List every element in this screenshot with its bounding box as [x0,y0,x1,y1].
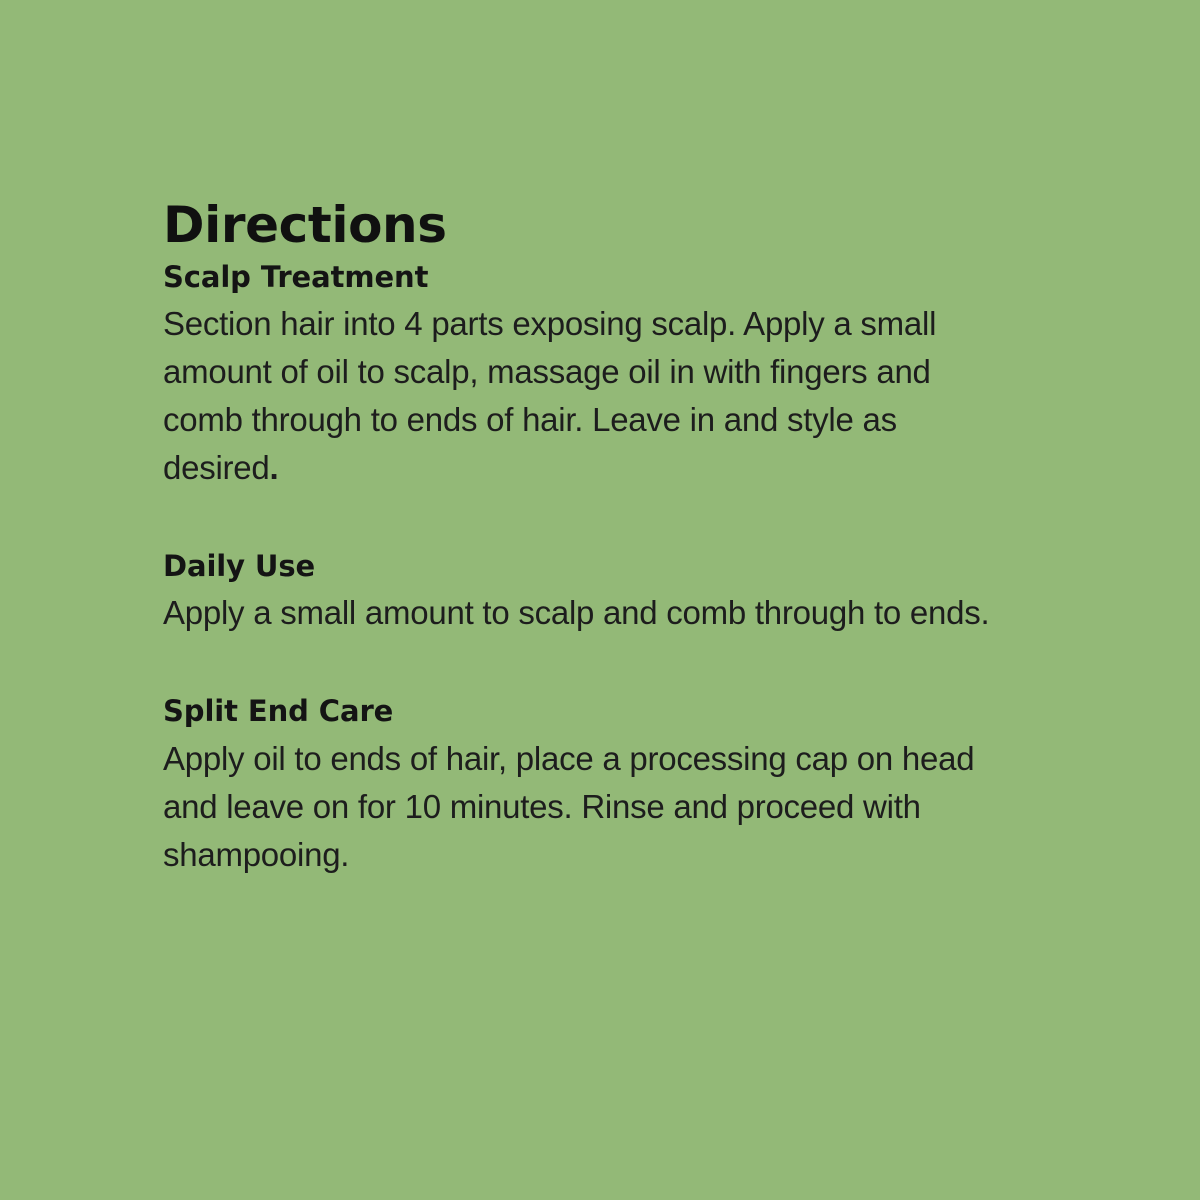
section-body-scalp-treatment: Section hair into 4 parts exposing scalp… [163,300,1011,492]
directions-panel: Directions Scalp Treatment Section hair … [163,198,1011,879]
section-body-text-scalp-treatment: Section hair into 4 parts exposing scalp… [163,305,936,486]
section-body-terminator-scalp-treatment: . [269,449,278,486]
section-body-daily-use: Apply a small amount to scalp and comb t… [163,589,1011,637]
section-scalp-treatment: Scalp Treatment Section hair into 4 part… [163,260,1011,492]
section-body-split-end-care: Apply oil to ends of hair, place a proce… [163,735,1011,879]
section-body-text-daily-use: Apply a small amount to scalp and comb t… [163,594,989,631]
section-daily-use: Daily Use Apply a small amount to scalp … [163,549,1011,637]
section-body-text-split-end-care: Apply oil to ends of hair, place a proce… [163,740,974,873]
section-heading-split-end-care: Split End Care [163,694,1011,728]
section-heading-daily-use: Daily Use [163,549,1011,583]
section-split-end-care: Split End Care Apply oil to ends of hair… [163,694,1011,878]
section-heading-scalp-treatment: Scalp Treatment [163,260,1011,294]
page-title: Directions [163,198,1011,252]
